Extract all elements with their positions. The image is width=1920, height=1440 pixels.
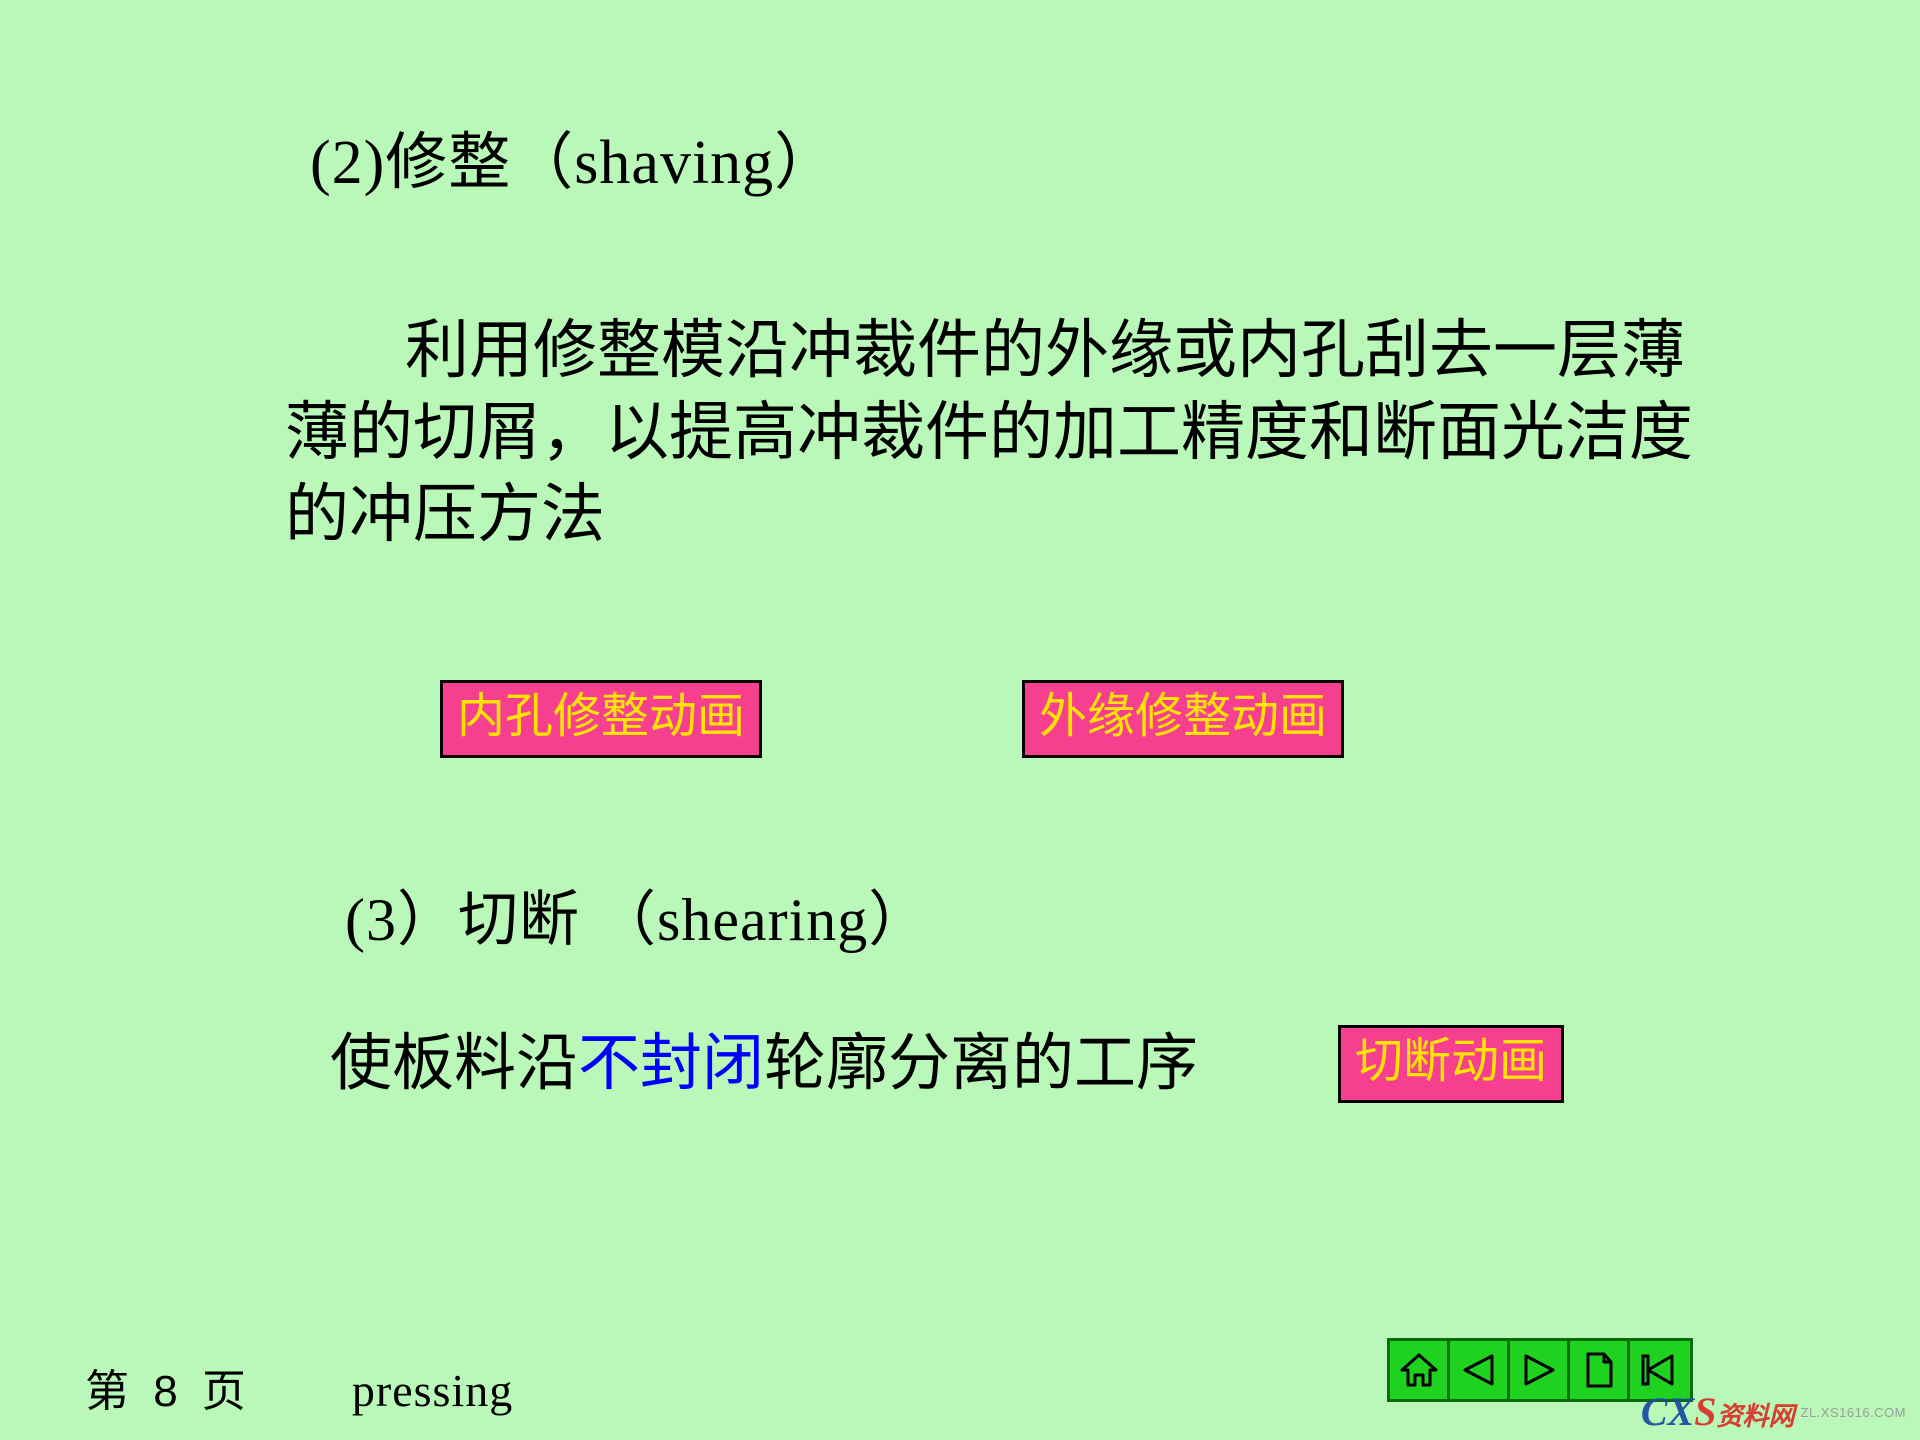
home-icon bbox=[1399, 1351, 1439, 1389]
shearing-animation-button[interactable]: 切断动画 bbox=[1338, 1025, 1564, 1103]
nav-next-button[interactable] bbox=[1510, 1341, 1570, 1399]
watermark: CXS资料网 ZL.XS1616.COM bbox=[1641, 1392, 1906, 1432]
inner-shaving-animation-button[interactable]: 内孔修整动画 bbox=[440, 680, 762, 758]
nav-previous-button[interactable] bbox=[1450, 1341, 1510, 1399]
page-icon bbox=[1583, 1351, 1615, 1389]
last-icon bbox=[1640, 1353, 1680, 1387]
shearing-text-highlight: 不封闭 bbox=[578, 1029, 764, 1098]
paragraph-shaving-text: 利用修整模沿冲裁件的外缘或内孔刮去一层薄薄的切屑，以提高冲裁件的加工精度和断面光… bbox=[285, 314, 1693, 550]
next-icon bbox=[1519, 1353, 1559, 1387]
nav-page-button[interactable] bbox=[1570, 1341, 1630, 1399]
deck-name-label: pressing bbox=[352, 1364, 513, 1417]
heading-shaving: (2)修整（shaving） bbox=[310, 132, 837, 194]
watermark-mark: CXS资料网 bbox=[1641, 1392, 1795, 1432]
nav-home-button[interactable] bbox=[1390, 1341, 1450, 1399]
watermark-url: ZL.XS1616.COM bbox=[1801, 1405, 1907, 1420]
slide-canvas: (2)修整（shaving） 利用修整模沿冲裁件的外缘或内孔刮去一层薄薄的切屑，… bbox=[0, 0, 1920, 1440]
page-number-label: 第 8 页 bbox=[85, 1355, 252, 1419]
slide-footer: 第 8 页 pressing bbox=[85, 1355, 513, 1419]
shearing-text-after: 轮廓分离的工序 bbox=[764, 1029, 1198, 1098]
paragraph-shaving-body: 利用修整模沿冲裁件的外缘或内孔刮去一层薄薄的切屑，以提高冲裁件的加工精度和断面光… bbox=[285, 310, 1725, 556]
heading-shearing: (3）切断 （shearing） bbox=[345, 890, 929, 950]
previous-icon bbox=[1459, 1353, 1499, 1387]
shearing-text-before: 使板料沿 bbox=[330, 1029, 578, 1098]
outer-shaving-animation-button[interactable]: 外缘修整动画 bbox=[1022, 680, 1344, 758]
paragraph-shearing-body: 使板料沿不封闭轮廓分离的工序 bbox=[330, 1030, 1198, 1098]
